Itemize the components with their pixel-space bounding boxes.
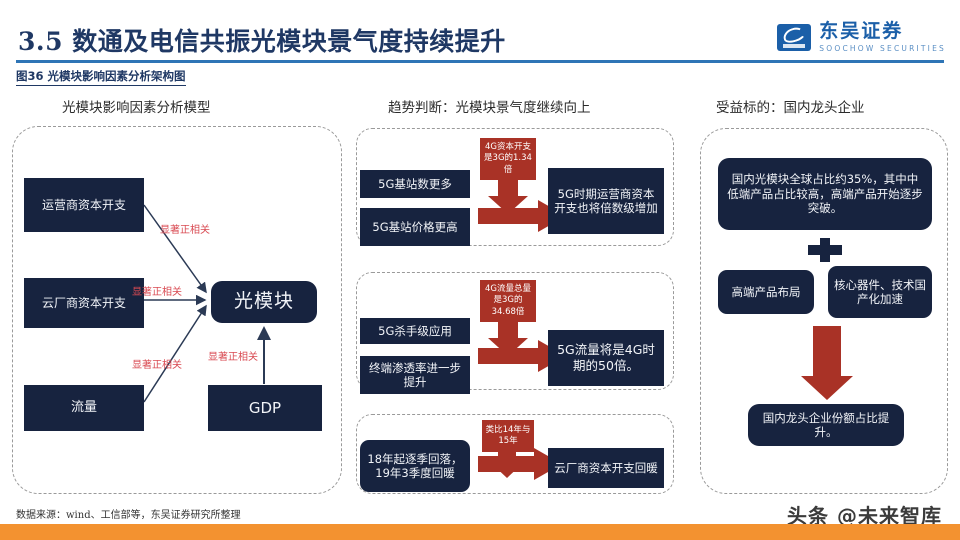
logo-text-cn: 东吴证券	[819, 22, 946, 42]
node-traffic[interactable]: 流量	[24, 385, 144, 431]
header-divider	[16, 60, 944, 63]
soochow-logo-icon	[777, 24, 811, 51]
sub-box-high-end-layout[interactable]: 高端产品布局	[718, 270, 814, 314]
node-carrier-capex[interactable]: 运营商资本开支	[24, 178, 144, 232]
callout-tag-capex: 4G资本开支是3G的1.34倍	[480, 138, 536, 180]
column-heading-right: 受益标的：国内龙头企业	[716, 96, 865, 116]
node-cloud-capex[interactable]: 云厂商资本开支	[24, 278, 144, 328]
node-gdp[interactable]: GDP	[208, 385, 322, 431]
logo-text-en: SOOCHOW SECURITIES	[819, 44, 946, 53]
edge-label-traffic: 显著正相关	[132, 356, 182, 371]
cause-box-5g-killer-app[interactable]: 5G杀手级应用	[360, 318, 470, 344]
plus-icon	[808, 238, 842, 262]
page-title: 3.5 数通及电信共振光模块景气度持续提升	[18, 22, 506, 58]
node-optical-module[interactable]: 光模块	[211, 281, 317, 323]
column-heading-middle: 趋势判断：光模块景气度继续向上	[388, 96, 591, 116]
cause-box-5g-station-price[interactable]: 5G基站价格更高	[360, 208, 470, 246]
cause-box-quarterly-decline[interactable]: 18年起逐季回落，19年3季度回暖	[360, 440, 470, 492]
result-box-carrier-capex[interactable]: 5G时期运营商资本开支也将倍数级增加	[548, 168, 664, 234]
sub-box-core-components[interactable]: 核心器件、技术国产化加速	[828, 266, 932, 318]
edge-label-gdp: 显著正相关	[208, 348, 258, 363]
bottom-accent-bar	[0, 524, 960, 540]
column-heading-left: 光模块影响因素分析模型	[62, 96, 211, 116]
cause-box-terminal-penetration[interactable]: 终端渗透率进一步提升	[360, 356, 470, 394]
figure-caption: 图36 光模块影响因素分析架构图	[16, 68, 186, 86]
cause-box-5g-station-count[interactable]: 5G基站数更多	[360, 170, 470, 198]
brand-logo: 东吴证券 SOOCHOW SECURITIES	[777, 22, 946, 53]
edge-label-cloud: 显著正相关	[132, 283, 182, 298]
statement-box-domestic-share[interactable]: 国内光模块全球占比约35%，其中中低端产品占比较高，高端产品开始逐步突破。	[718, 158, 932, 230]
result-box-cloud-capex[interactable]: 云厂商资本开支回暖	[548, 448, 664, 488]
result-box-5g-traffic[interactable]: 5G流量将是4G时期的50倍。	[548, 330, 664, 386]
callout-tag-traffic: 4G流量总量是3G的34.68倍	[480, 280, 536, 322]
callout-tag-cloud: 类比14年与15年	[482, 420, 534, 452]
result-box-leader-share[interactable]: 国内龙头企业份额占比提升。	[748, 404, 904, 446]
source-note: 数据来源：wind、工信部等，东吴证券研究所整理	[16, 506, 241, 521]
edge-label-carrier: 显著正相关	[160, 221, 210, 236]
slide-canvas: 3.5 数通及电信共振光模块景气度持续提升 东吴证券 SOOCHOW SECUR…	[0, 0, 960, 540]
